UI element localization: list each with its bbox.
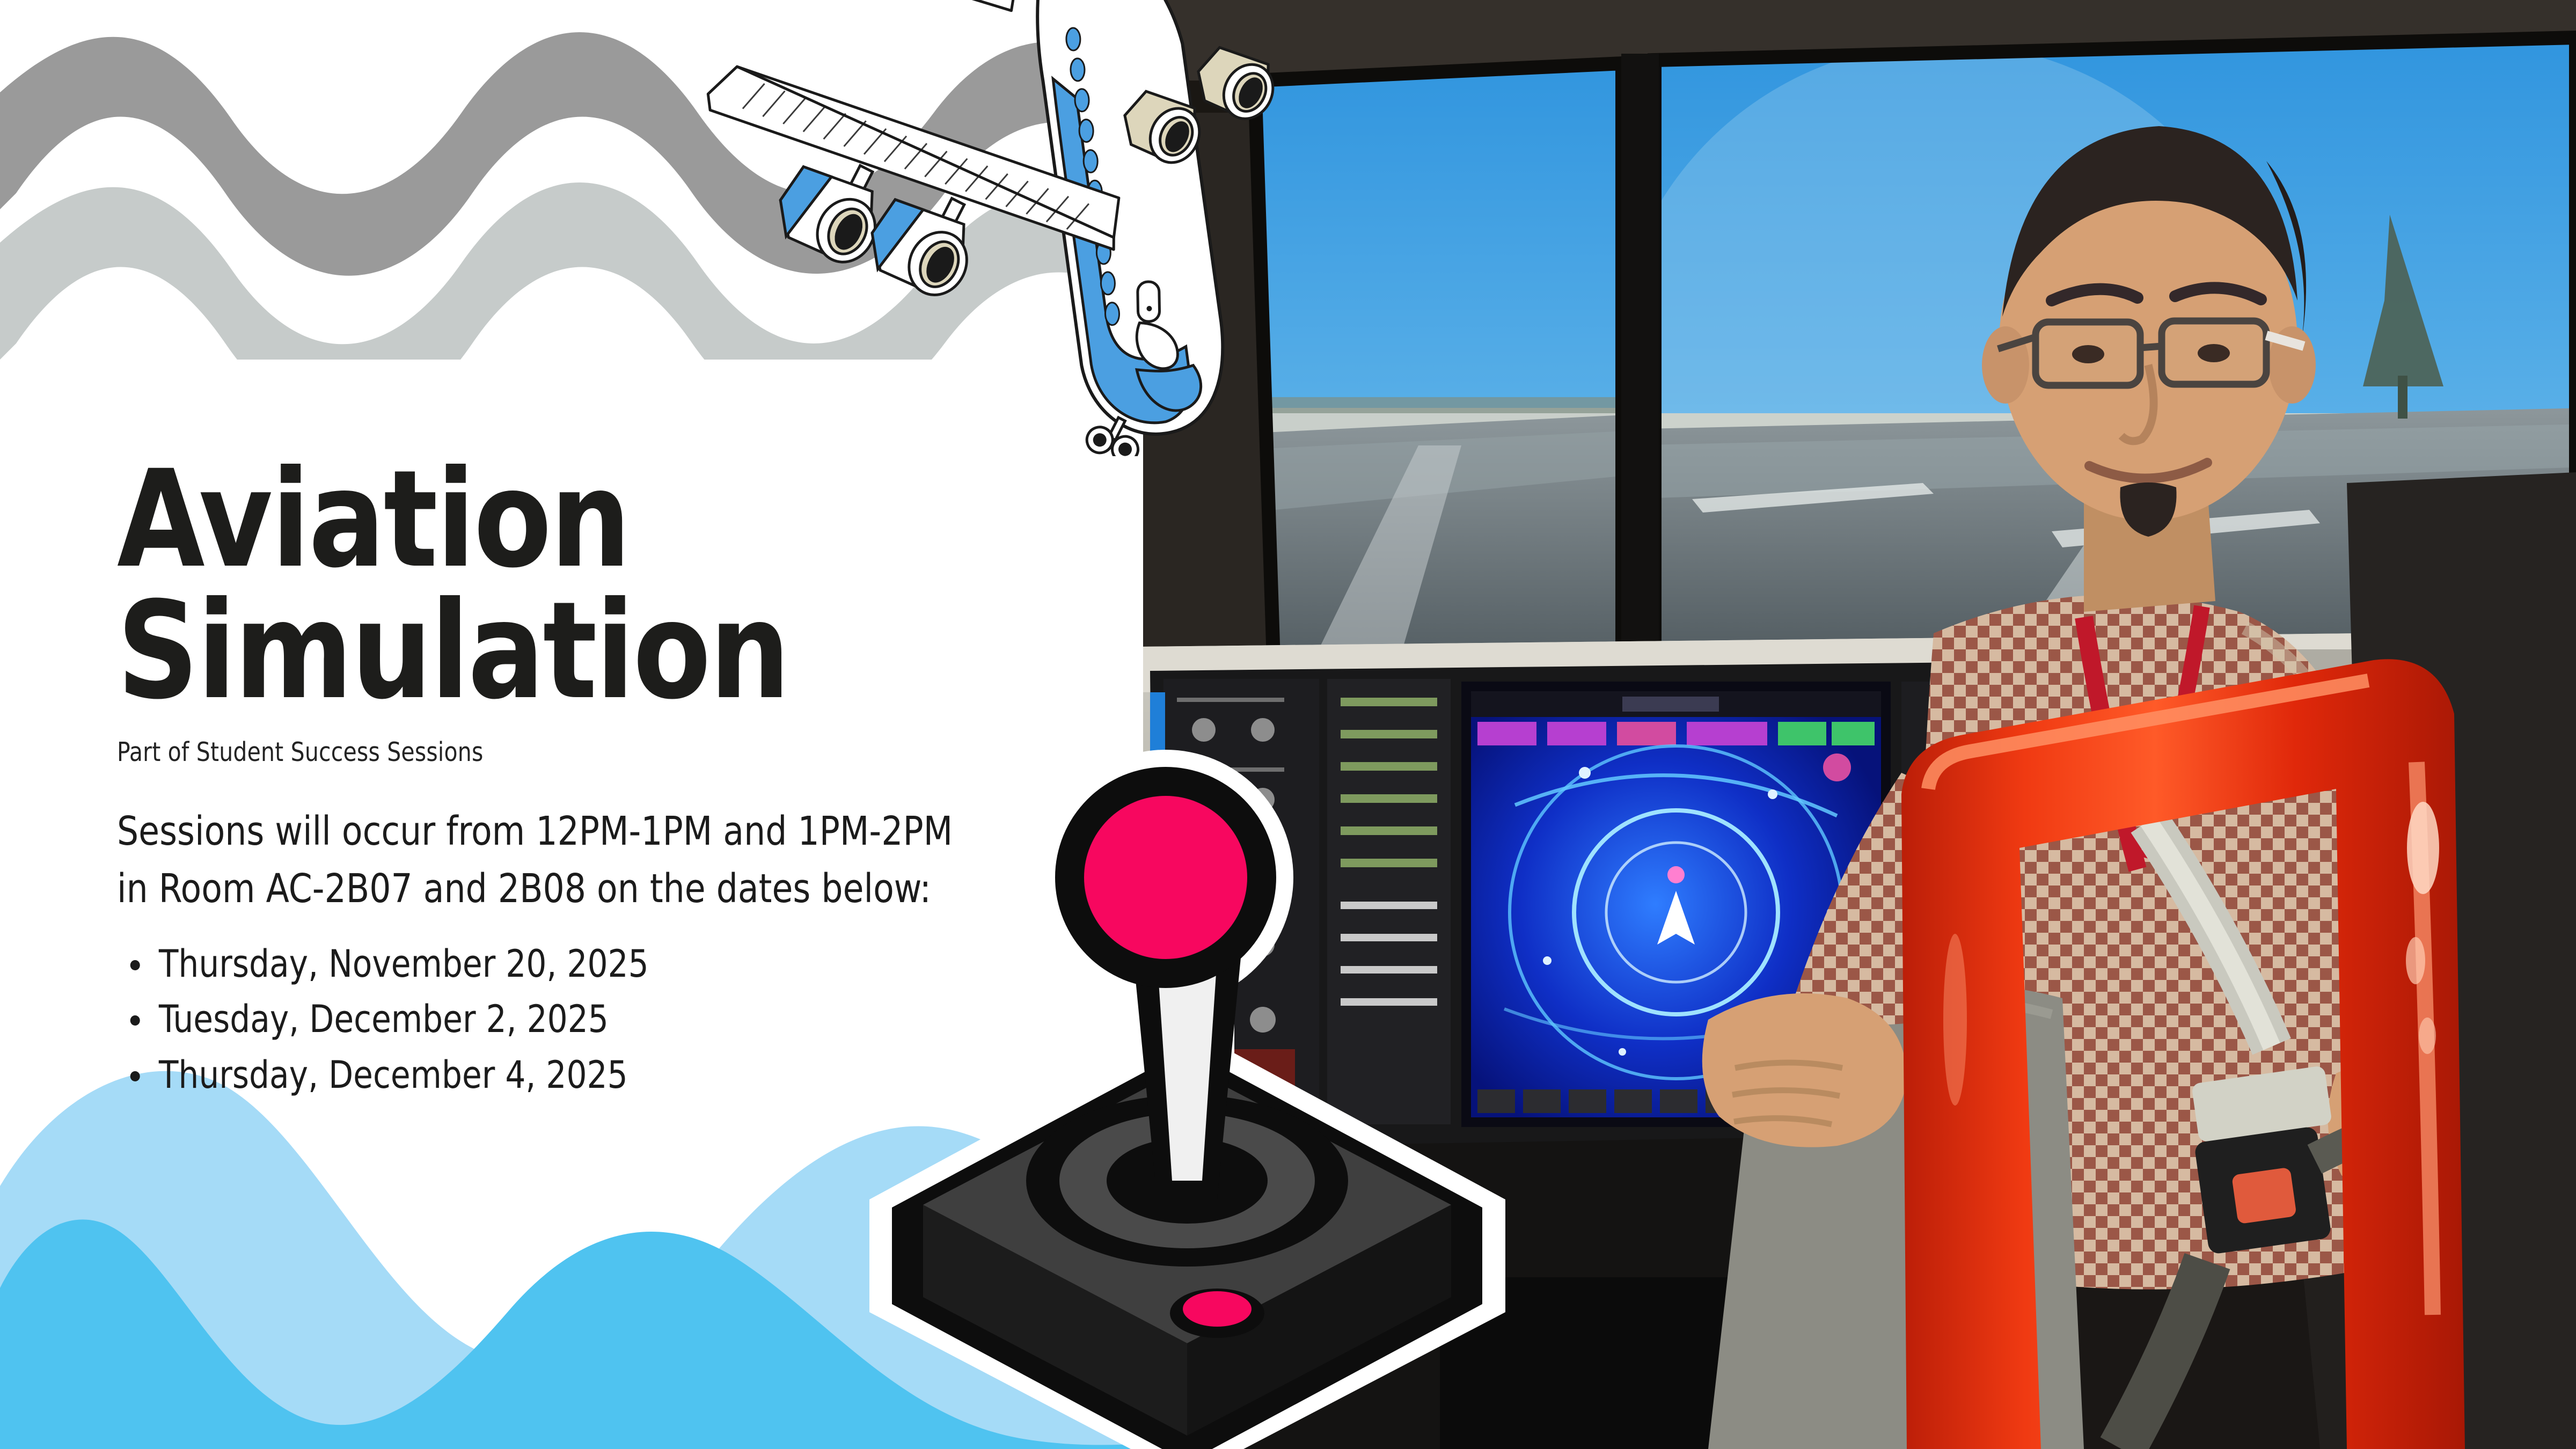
- body-line-1: Sessions will occur from 12PM-1PM and 1P…: [117, 803, 984, 860]
- page-title: Aviation Simulation: [117, 453, 975, 716]
- text-block: Aviation Simulation Part of Student Succ…: [117, 453, 1029, 1103]
- gray-wave-decoration: [0, 16, 1143, 360]
- avionics-switch-bank-mid: [1327, 679, 1451, 1124]
- flight-simulator-photo: [1139, 0, 2576, 1449]
- list-item: Tuesday, December 2, 2025: [117, 992, 984, 1048]
- avionics-switch-bank-left: [1150, 679, 1319, 1124]
- body-line-2: in Room AC-2B07 and 2B08 on the dates be…: [117, 860, 984, 918]
- sim-window-left: [1220, 43, 1660, 687]
- list-item: Thursday, November 20, 2025: [117, 936, 984, 992]
- subtitle: Part of Student Success Sessions: [117, 737, 965, 767]
- date-list: Thursday, November 20, 2025 Tuesday, Dec…: [117, 936, 1029, 1103]
- slide-canvas: Aviation Simulation Part of Student Succ…: [0, 0, 2576, 1449]
- hand: [1702, 993, 1907, 1147]
- cockpit-photo-illustration: [1139, 0, 2576, 1449]
- content-panel: Aviation Simulation Part of Student Succ…: [0, 0, 1143, 1449]
- list-item: Thursday, December 4, 2025: [117, 1048, 984, 1103]
